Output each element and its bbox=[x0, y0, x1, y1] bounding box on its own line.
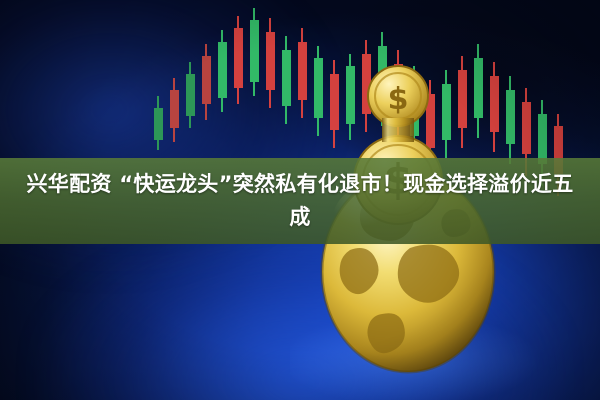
image-canvas: $ $ 兴华配资 “快运龙头”突然私有化退市！现金选择溢价近五成 bbox=[0, 0, 600, 400]
headline-text: 兴华配资 “快运龙头”突然私有化退市！现金选择溢价近五成 bbox=[0, 168, 600, 234]
headline-banner: 兴华配资 “快运龙头”突然私有化退市！现金选择溢价近五成 bbox=[0, 158, 600, 244]
